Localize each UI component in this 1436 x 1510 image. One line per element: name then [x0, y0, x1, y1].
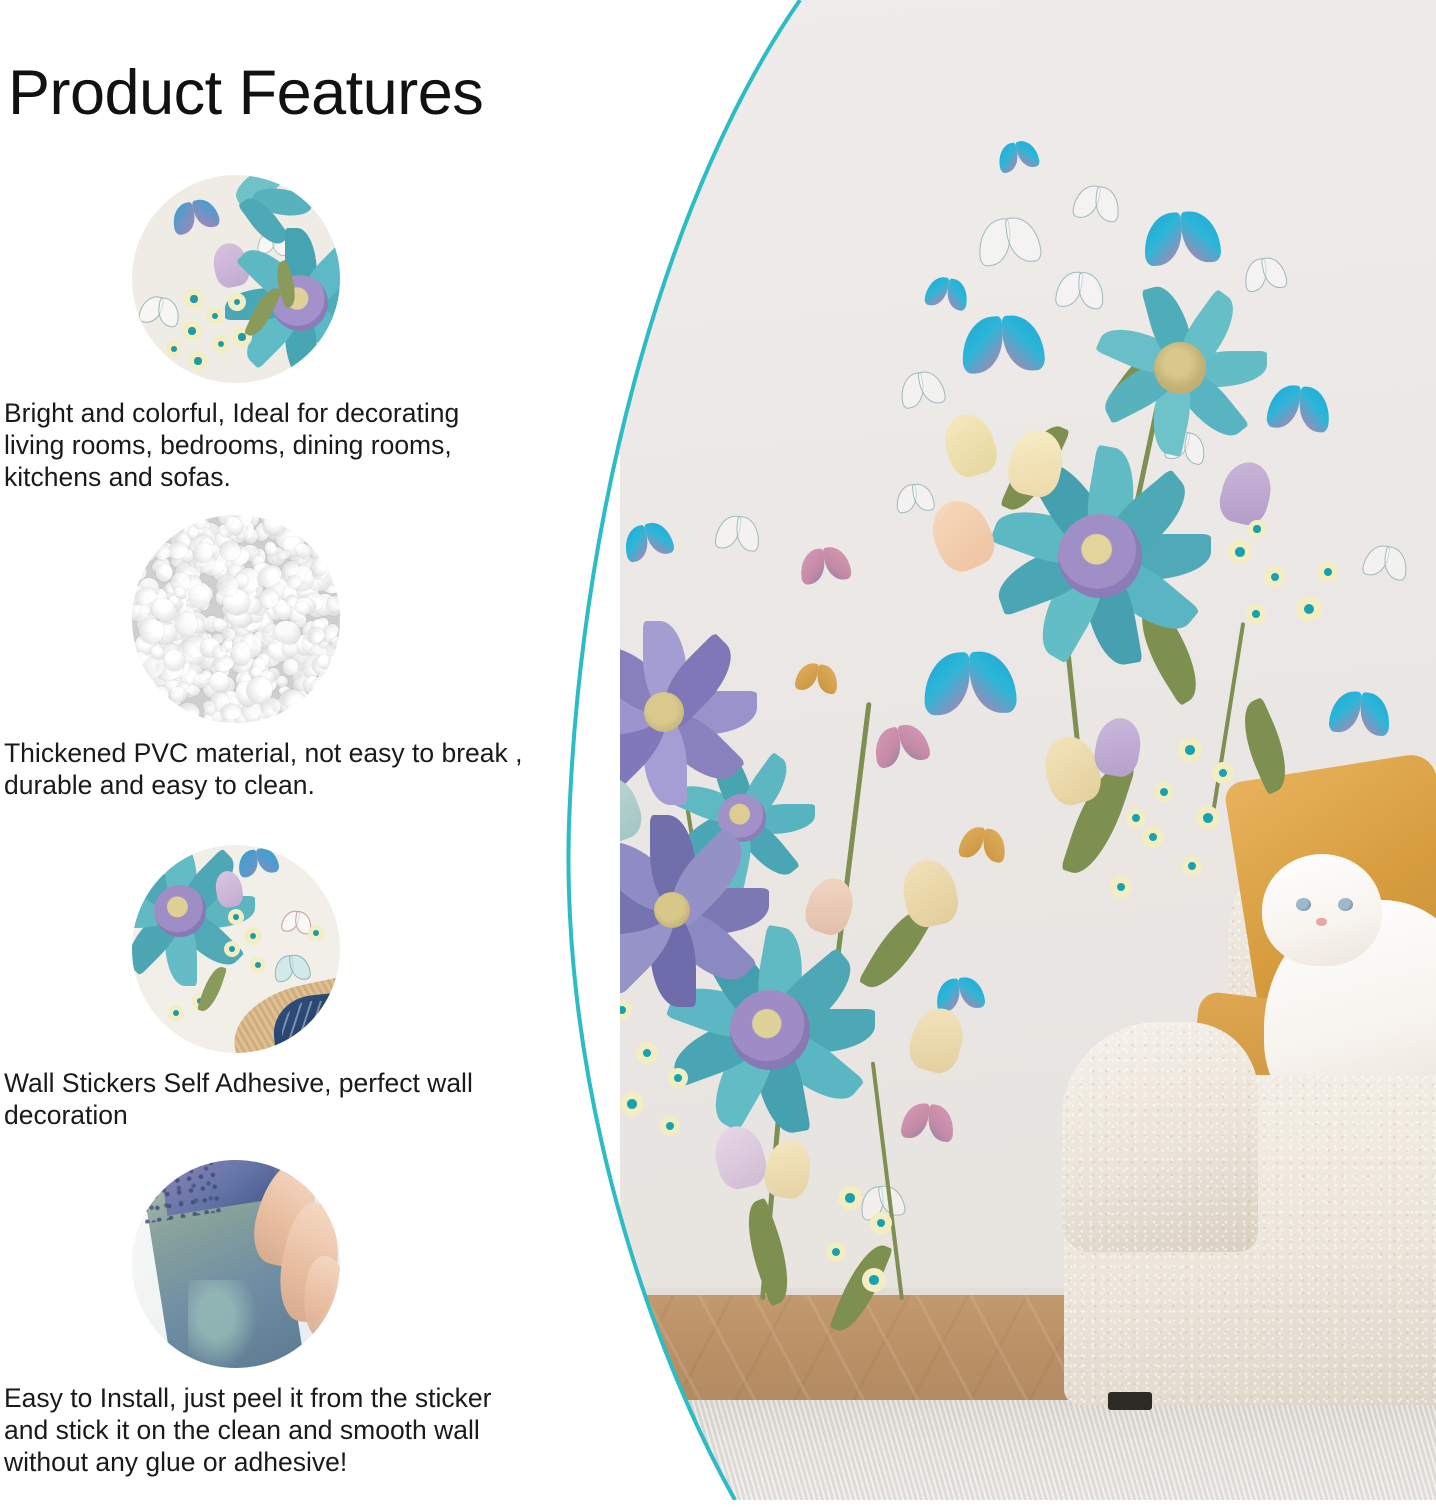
floral-decal-closeup-thumbnail: [132, 175, 340, 383]
small-blossom: [1248, 520, 1266, 538]
feature-block-4: Easy to Install, just peel it from the s…: [0, 1160, 560, 1478]
sofa-foot: [1108, 1392, 1152, 1410]
feature-block-3: Wall Stickers Self Adhesive, perfect wal…: [0, 845, 560, 1131]
small-blossom: [1126, 808, 1146, 828]
wall-decor-styling-thumbnail: [132, 845, 340, 1053]
pvc-pellets-thumbnail: [132, 515, 340, 723]
butterfly-icon: [273, 953, 311, 981]
page-title: Product Features: [8, 62, 483, 125]
small-blossom: [870, 1212, 892, 1234]
sofa-arm: [1062, 1022, 1258, 1252]
small-blossom: [1154, 782, 1174, 802]
pvc-pellet: [276, 549, 290, 560]
cat-eye-left: [1296, 898, 1311, 911]
feature-text-3: Wall Stickers Self Adhesive, perfect wal…: [4, 1067, 524, 1131]
feature-thumbnail-4: [132, 1160, 340, 1368]
purple-flower: [672, 910, 673, 911]
small-blossom: [1110, 876, 1132, 898]
small-blossom: [1264, 566, 1286, 588]
butterfly-icon: [236, 846, 280, 879]
small-blossom: [620, 1092, 644, 1116]
butterfly-decal: [1242, 255, 1288, 291]
small-blossom: [660, 1116, 680, 1136]
small-blossom: [1182, 856, 1202, 876]
feature-block-1: Bright and colorful, Ideal for decoratin…: [0, 175, 560, 493]
small-blossom: [636, 1042, 658, 1064]
butterfly-decal: [934, 975, 986, 1013]
butterfly-decal: [898, 368, 947, 407]
features-panel: Product Features: [0, 0, 620, 1500]
peel-sticker-thumbnail: [132, 1160, 340, 1368]
butterfly-decal: [961, 314, 1046, 374]
small-blossom: [1212, 762, 1234, 784]
teal-daisy-flower: [742, 818, 743, 819]
feature-thumbnail-3: [132, 845, 340, 1053]
small-blossom: [668, 1068, 688, 1088]
butterfly-decal: [895, 482, 935, 511]
butterfly-decal: [900, 1101, 955, 1142]
small-blossom: [1318, 562, 1338, 582]
small-blossom: [1178, 738, 1202, 762]
butterfly-decal: [714, 514, 761, 550]
feature-block-2: Thickened PVC material, not easy to brea…: [0, 515, 560, 801]
teal-daisy-flower: [770, 1030, 771, 1031]
small-blossom: [1196, 806, 1220, 830]
cat-head: [1262, 854, 1382, 966]
small-blossom: [1246, 604, 1266, 624]
purple-flower: [664, 712, 665, 713]
small-blossom: [1296, 596, 1322, 622]
butterfly-icon: [138, 294, 182, 327]
butterfly-icon: [169, 196, 221, 236]
small-blossom: [1228, 540, 1252, 564]
feature-text-4: Easy to Install, just peel it from the s…: [4, 1382, 524, 1478]
small-blossom: [1142, 826, 1164, 848]
butterfly-decal: [976, 215, 1042, 265]
butterfly-decal: [923, 650, 1017, 715]
butterfly-decal: [1142, 209, 1221, 266]
teal-daisy-flower: [1100, 556, 1101, 557]
cat-eye-right: [1338, 898, 1353, 911]
feature-text-1: Bright and colorful, Ideal for decoratin…: [4, 397, 524, 493]
small-blossom: [862, 1268, 886, 1292]
butterfly-decal: [794, 661, 839, 695]
butterfly-decal: [798, 545, 852, 586]
butterfly-decal: [1266, 383, 1332, 433]
feature-thumbnail-1: [132, 175, 340, 383]
cat-nose: [1316, 918, 1327, 926]
butterfly-decal: [1072, 183, 1122, 221]
small-blossom: [838, 1186, 862, 1210]
feature-thumbnail-2: [132, 515, 340, 723]
small-blossom: [826, 1242, 846, 1262]
butterfly-decal: [1328, 689, 1391, 736]
feature-text-2: Thickened PVC material, not easy to brea…: [4, 737, 524, 801]
butterfly-decal: [1362, 542, 1411, 579]
teal-daisy-flower: [1180, 368, 1181, 369]
butterfly-decal: [1055, 270, 1105, 307]
